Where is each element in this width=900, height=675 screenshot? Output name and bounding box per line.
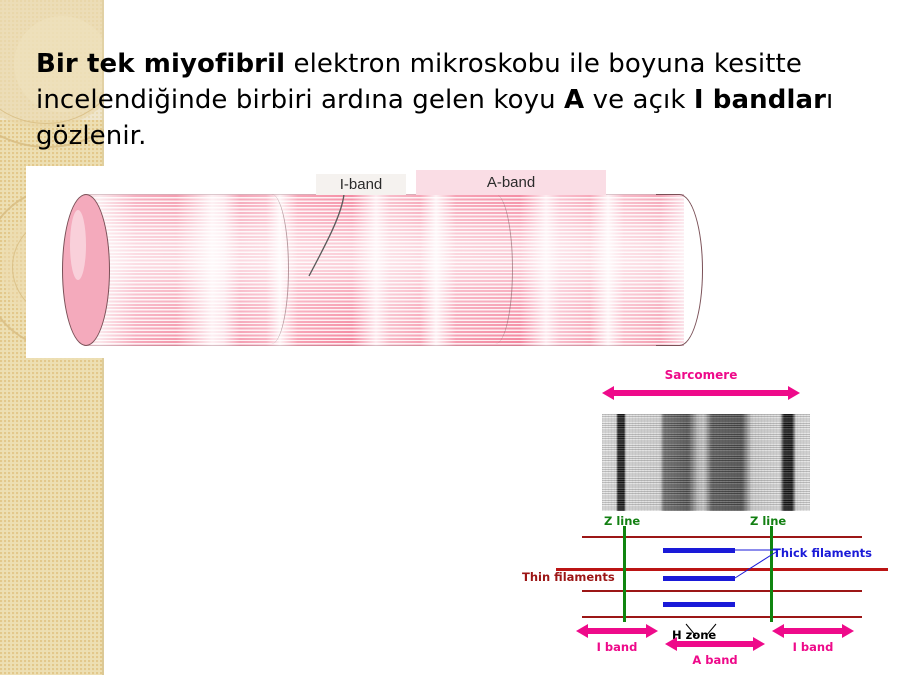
a-band-arrow: [665, 637, 765, 651]
headline-run-4: I bandlar: [694, 85, 826, 115]
myofibril-illustration: I-band A-band: [26, 166, 706, 358]
i-band-left-label: I band: [576, 640, 658, 654]
sarcomere-span-arrow: [602, 386, 800, 400]
a-band-label: A band: [665, 653, 765, 667]
thick-filaments-label: Thick filaments: [773, 546, 872, 560]
arrow-head-right: [788, 386, 800, 400]
myofibril-i-band-label: I-band: [316, 174, 406, 195]
i-band-right-label: I band: [772, 640, 854, 654]
micrograph-grain-texture: [602, 414, 810, 511]
myofibril-right-end-arc: [656, 194, 703, 346]
arrow-head-right: [646, 624, 658, 638]
filament-schematic: Thin filaments Thick filaments H zone: [520, 528, 900, 638]
sarcomere-diagram: Sarcomere Z line Z line Thin filaments: [520, 368, 900, 675]
myofibril-end-cap-highlight: [70, 210, 86, 280]
page-title: Bir tek miyofibril elektron mikroskobu i…: [36, 46, 836, 154]
z-line-label-right: Z line: [750, 514, 786, 528]
i-band-left-arrow: [576, 624, 658, 638]
arrow-shaft: [585, 628, 649, 634]
myofibril-sarcomere-arc-1: [254, 194, 289, 344]
headline-run-0: Bir tek miyofibril: [36, 49, 285, 79]
electron-micrograph-image: [602, 414, 810, 511]
headline-run-2: A: [564, 85, 584, 115]
sarcomere-title-label: Sarcomere: [606, 368, 796, 382]
arrow-head-right: [753, 637, 765, 651]
arrow-shaft: [674, 641, 756, 647]
myofibril-a-band-label: A-band: [416, 170, 606, 195]
headline-run-3: ve açık: [584, 85, 694, 115]
arrow-shaft: [611, 390, 791, 396]
arrow-head-right: [842, 624, 854, 638]
myofibril-end-cap: [62, 194, 110, 346]
myofibril-sarcomere-arc-2: [478, 194, 513, 344]
i-band-right-arrow: [772, 624, 854, 638]
arrow-shaft: [781, 628, 845, 634]
thin-filaments-label: Thin filaments: [522, 570, 615, 584]
